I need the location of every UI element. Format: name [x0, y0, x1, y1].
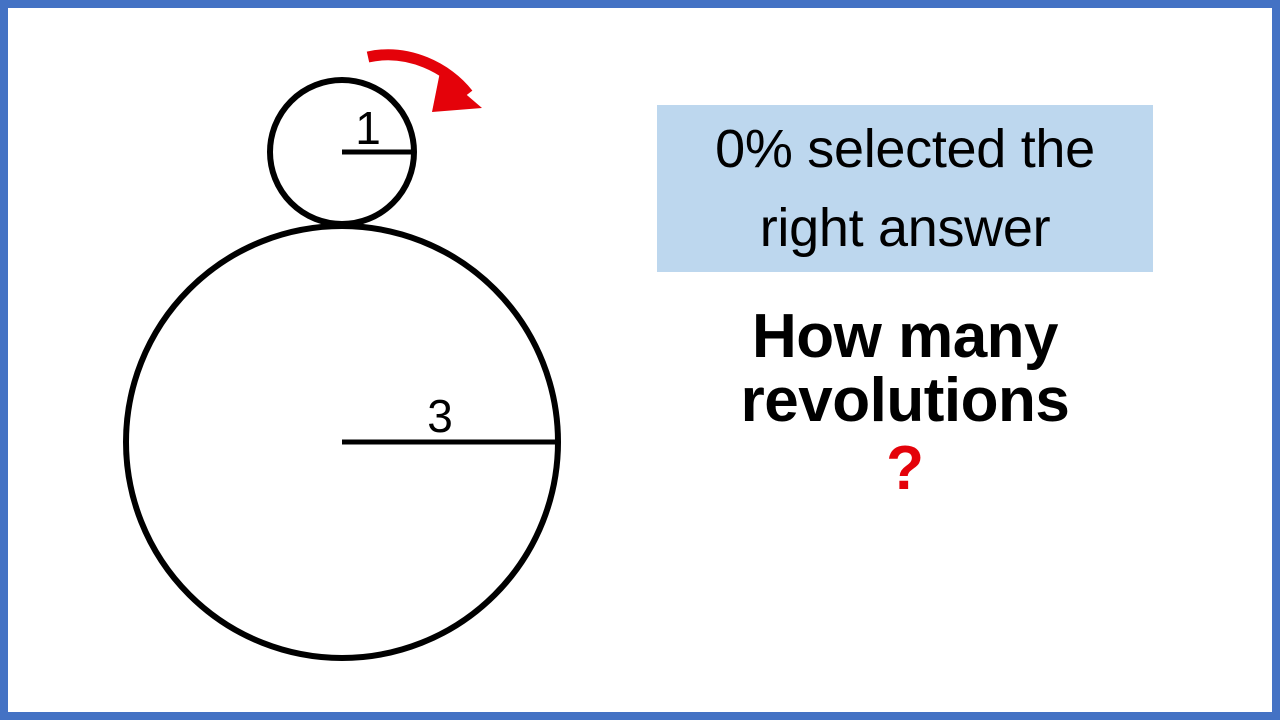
result-callout-box: 0% selected the right answer: [657, 105, 1153, 272]
result-callout-line-2: right answer: [760, 198, 1051, 258]
rotation-arrow-icon: [368, 55, 482, 112]
right-text-column: 0% selected the right answer How many re…: [640, 60, 1240, 660]
result-callout-text: 0% selected the right answer: [709, 110, 1101, 267]
question-block: How many revolutions ?: [650, 305, 1160, 503]
result-callout-line-1: 0% selected the: [715, 119, 1095, 179]
question-mark: ?: [650, 435, 1160, 503]
screenshot-canvas: 1 3 0% selected the right answer How man…: [0, 0, 1280, 720]
question-line-1: How many: [650, 305, 1160, 369]
circles-figure: 1 3: [90, 20, 630, 700]
small-circle-label: 1: [355, 102, 381, 154]
question-line-2: revolutions: [650, 369, 1160, 433]
large-circle-label: 3: [427, 390, 453, 442]
